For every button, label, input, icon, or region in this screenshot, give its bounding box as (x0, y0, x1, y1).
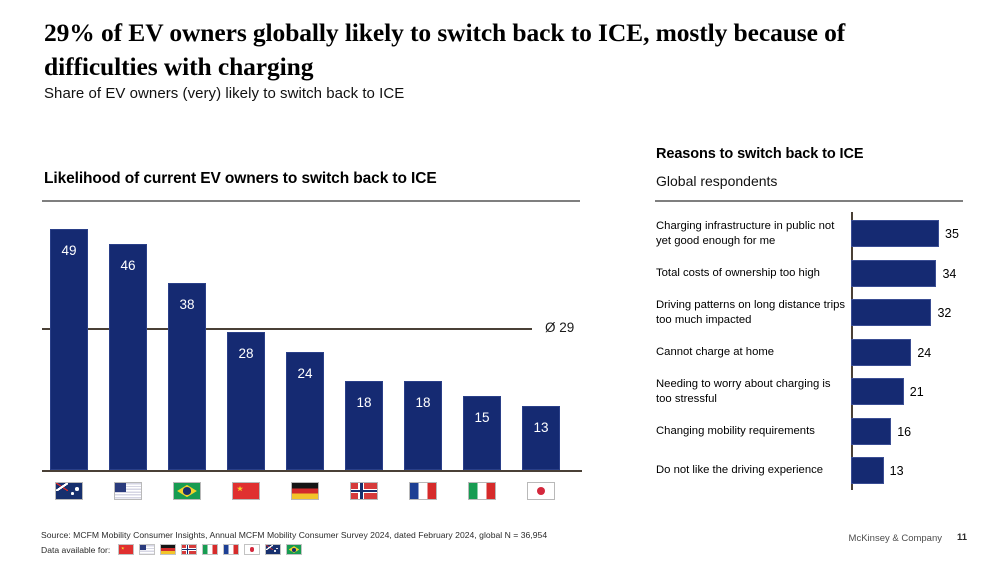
horizontal-bar (851, 299, 931, 326)
right-chart-heading: Reasons to switch back to ICE (656, 146, 863, 162)
column-bar-value: 24 (286, 366, 324, 381)
column-chart: Ø 29 494638282418181513 (42, 205, 582, 505)
column-bar (522, 406, 560, 470)
horizontal-bar (851, 339, 911, 366)
column-bar-value: 28 (227, 346, 265, 361)
column-chart-baseline (42, 470, 582, 472)
horizontal-bar (851, 220, 939, 247)
horizontal-bar-value: 32 (937, 306, 951, 320)
italy-flag (202, 544, 218, 555)
horizontal-bar (851, 378, 904, 405)
norway-flag (181, 544, 197, 555)
germany-flag (291, 482, 319, 500)
page-subtitle: Share of EV owners (very) likely to swit… (44, 85, 404, 102)
norway-flag (350, 482, 378, 500)
column-bar-value: 18 (345, 395, 383, 410)
bar-category-label: Total costs of ownership too high (656, 266, 846, 281)
horizontal-bar-value: 24 (917, 346, 931, 360)
china-flag (232, 482, 260, 500)
right-divider (655, 200, 963, 202)
germany-flag (160, 544, 176, 555)
column-bar (50, 229, 88, 470)
australia-flag (55, 482, 83, 500)
horizontal-bar-value: 35 (945, 227, 959, 241)
usa-flag (114, 482, 142, 500)
column-bar (109, 244, 147, 470)
usa-flag (139, 544, 155, 555)
page-title: 29% of EV owners globally likely to swit… (44, 16, 914, 84)
japan-flag (244, 544, 260, 555)
column-bar-value: 38 (168, 297, 206, 312)
column-bar-value: 46 (109, 258, 147, 273)
source-note: Source: MCFM Mobility Consumer Insights,… (41, 530, 547, 540)
bar-category-label: Cannot charge at home (656, 345, 846, 360)
bar-category-label: Do not like the driving experience (656, 463, 846, 478)
horizontal-bar (851, 418, 891, 445)
italy-flag (468, 482, 496, 500)
availability-label: Data available for: (41, 545, 110, 555)
bar-category-label: Charging infrastructure in public not ye… (656, 219, 846, 248)
horizontal-bar (851, 457, 884, 484)
page-number: 11 (957, 532, 967, 543)
horizontal-bar-value: 13 (890, 464, 904, 478)
australia-flag (265, 544, 281, 555)
left-divider (42, 200, 580, 202)
horizontal-bar-value: 21 (910, 385, 924, 399)
horizontal-bar (851, 260, 936, 287)
column-bar-value: 13 (522, 420, 560, 435)
average-label: Ø 29 (545, 320, 574, 335)
brazil-flag (173, 482, 201, 500)
horizontal-bar-value: 16 (897, 425, 911, 439)
france-flag (223, 544, 239, 555)
brand-mark: McKinsey & Company (849, 533, 942, 544)
country-flag-row (42, 482, 582, 504)
horizontal-bar-value: 34 (942, 267, 956, 281)
column-bar-value: 49 (50, 243, 88, 258)
france-flag (409, 482, 437, 500)
horizontal-bar-chart: 35Charging infrastructure in public not … (655, 212, 965, 494)
slide-canvas: 29% of EV owners globally likely to swit… (0, 0, 1000, 562)
column-bar-value: 15 (463, 410, 501, 425)
china-flag (118, 544, 134, 555)
japan-flag (527, 482, 555, 500)
right-chart-subheading: Global respondents (656, 173, 777, 189)
bar-category-label: Changing mobility requirements (656, 424, 846, 439)
brazil-flag (286, 544, 302, 555)
left-chart-heading: Likelihood of current EV owners to switc… (44, 170, 437, 188)
column-bar (463, 396, 501, 470)
bar-category-label: Needing to worry about charging is too s… (656, 377, 846, 406)
bar-category-label: Driving patterns on long distance trips … (656, 298, 846, 327)
column-bar-value: 18 (404, 395, 442, 410)
